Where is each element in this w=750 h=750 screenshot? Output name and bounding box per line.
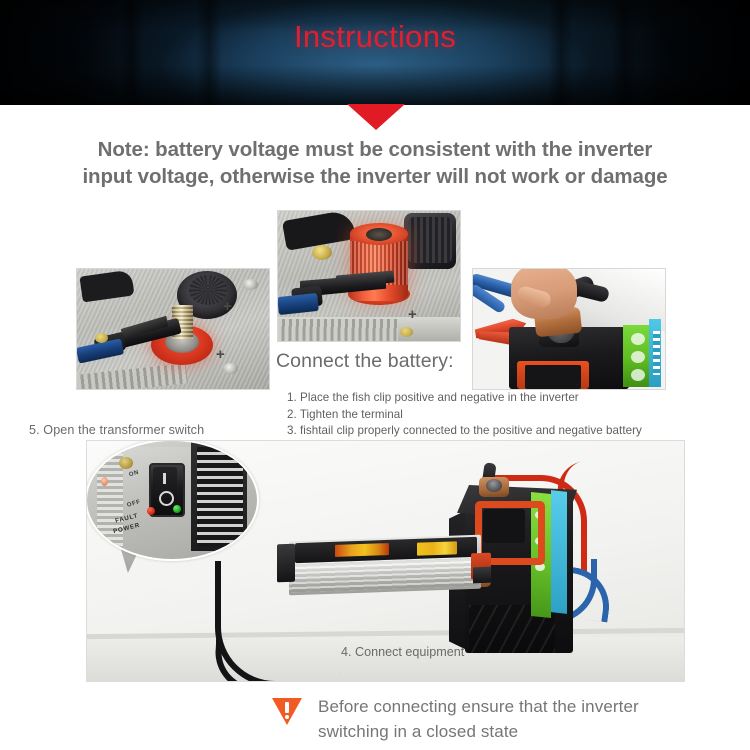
connect-battery-heading: Connect the battery: bbox=[276, 350, 454, 373]
label-icon bbox=[631, 333, 645, 345]
warning-exclamation-dot-icon bbox=[285, 715, 289, 719]
inverter-indicator-bars bbox=[417, 541, 457, 555]
red-cap-bore bbox=[366, 228, 392, 241]
warning-line-1: Before connecting ensure that the invert… bbox=[318, 694, 639, 719]
cross-mark: + bbox=[216, 347, 225, 362]
caption-step-5: 5. Open the transformer switch bbox=[29, 423, 204, 437]
cross-mark: + bbox=[223, 299, 232, 314]
panel-screw bbox=[223, 363, 238, 374]
indicator-lamp bbox=[101, 477, 108, 486]
warning-line-2: switching in a closed state bbox=[318, 719, 639, 744]
label-icon bbox=[631, 369, 645, 381]
down-arrow-icon bbox=[347, 104, 405, 130]
brass-screw bbox=[400, 327, 413, 337]
brass-screw bbox=[95, 333, 108, 343]
panel-screw bbox=[243, 279, 258, 290]
instructions-page: Instructions Note: battery voltage must … bbox=[0, 0, 750, 750]
label-ticks bbox=[653, 331, 660, 375]
black-cap-ribs bbox=[408, 217, 452, 263]
vent-slots bbox=[197, 447, 243, 547]
black-cable bbox=[214, 639, 342, 682]
connect-steps-list: 1. Place the fish clip positive and nega… bbox=[287, 390, 707, 440]
fault-led bbox=[147, 507, 155, 515]
photo-full-setup: ON OFF FAULT POWER 4. Connect equipment bbox=[86, 440, 685, 682]
list-item: 1. Place the fish clip positive and nega… bbox=[287, 390, 707, 407]
battery-blue-label bbox=[551, 490, 567, 614]
page-title: Instructions bbox=[0, 19, 750, 55]
warning-exclamation-icon bbox=[285, 702, 289, 713]
list-item: 2. Tighten the terminal bbox=[287, 407, 707, 424]
inverter-dc-terminal-base bbox=[473, 567, 491, 584]
brass-screw bbox=[119, 457, 133, 469]
brass-screw bbox=[312, 245, 332, 260]
battery-post bbox=[486, 479, 502, 492]
switch-off-mark-icon bbox=[159, 491, 174, 506]
power-led bbox=[173, 505, 181, 513]
battery-recess bbox=[525, 365, 581, 389]
label-icon bbox=[631, 351, 645, 363]
battery-handle-recess bbox=[483, 509, 525, 543]
hand bbox=[551, 268, 595, 311]
list-item: 3. fishtail clip properly connected to t… bbox=[287, 423, 707, 440]
inverter-model-marking bbox=[335, 543, 389, 557]
table-edge bbox=[87, 637, 684, 681]
note-line-1: Note: battery voltage must be consistent… bbox=[0, 136, 750, 163]
warning-text: Before connecting ensure that the invert… bbox=[318, 694, 639, 744]
header-banner: Instructions bbox=[0, 0, 750, 105]
caption-step-4: 4. Connect equipment bbox=[341, 645, 464, 659]
switch-on-mark-icon bbox=[163, 473, 166, 484]
heatsink-fins bbox=[278, 319, 398, 341]
photo-terminal-tightened: + bbox=[277, 210, 461, 342]
photo-hand-clamp-battery bbox=[472, 268, 666, 390]
fan-vanes bbox=[189, 275, 227, 305]
note-text: Note: battery voltage must be consistent… bbox=[0, 136, 750, 190]
callout-switch-zoom: ON OFF FAULT POWER bbox=[86, 440, 259, 561]
cross-mark: + bbox=[408, 307, 417, 322]
note-line-2: input voltage, otherwise the inverter wi… bbox=[0, 163, 750, 190]
photo-inverter-terminal: + + bbox=[76, 268, 270, 390]
